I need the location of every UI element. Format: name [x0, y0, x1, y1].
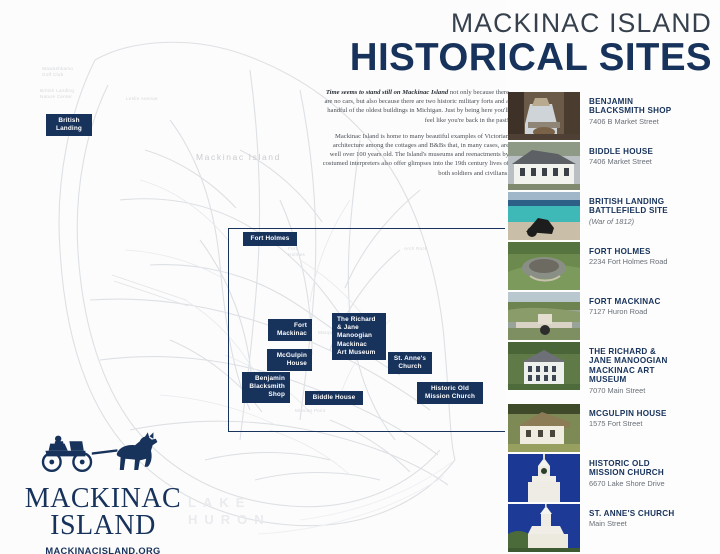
- intro-paragraph-2: Mackinac Island is home to many beautifu…: [322, 132, 509, 178]
- thumbnail-biddle-house[interactable]: [508, 142, 580, 190]
- map-pin-art-museum[interactable]: The Richard & Jane Manoogian Mackinac Ar…: [332, 313, 386, 360]
- thumbnail-british-landing[interactable]: [508, 192, 580, 240]
- thumbnail-fort-mackinac[interactable]: [508, 292, 580, 340]
- site-name: ST. ANNE'S CHURCH: [589, 509, 718, 518]
- map-pin-st-annes-church[interactable]: St. Anne's Church: [388, 352, 432, 374]
- mackinac-island-logo[interactable]: MACKINAC ISLAND MACKINACISLAND.ORG: [8, 430, 198, 554]
- title-line-1: MACKINAC ISLAND: [330, 8, 712, 38]
- thumbnail-st-annes-church[interactable]: [508, 504, 580, 552]
- site-address: 1575 Fort Street: [589, 419, 718, 428]
- site-address: 7127 Huron Road: [589, 307, 718, 316]
- list-item[interactable]: THE RICHARD & JANE MANOOGIAN MACKINAC AR…: [508, 342, 718, 404]
- map-label-mission-point: Mission Point: [295, 408, 326, 414]
- map-label-british-landing-nature-center: British LandingNature Center: [40, 88, 74, 100]
- map-pin-benjamin-blacksmith-shop[interactable]: Benjamin Blacksmith Shop: [242, 372, 290, 403]
- site-address: Main Street: [589, 519, 718, 528]
- site-name: BIDDLE HOUSE: [589, 147, 718, 156]
- site-name: FORT MACKINAC: [589, 297, 718, 306]
- site-name: BRITISH LANDING BATTLEFIELD SITE: [589, 197, 718, 216]
- thumbnail-mcgulpin-house[interactable]: [508, 404, 580, 452]
- historical-sites-poster: WawashkamoGolf Club British LandingNatur…: [0, 0, 720, 554]
- map-label-fort-holmes-faint: FortHolmes: [288, 246, 305, 258]
- intro-paragraph-1: Time seems to stand still on Mackinac Is…: [322, 88, 509, 125]
- site-text: ST. ANNE'S CHURCH Main Street: [580, 504, 718, 529]
- horse-carriage-icon: [23, 430, 183, 478]
- site-text: HISTORIC OLD MISSION CHURCH 6670 Lake Sh…: [580, 454, 718, 488]
- map-pin-fort-mackinac[interactable]: Fort Mackinac: [268, 319, 312, 341]
- logo-wordmark: MACKINAC ISLAND: [8, 485, 198, 539]
- map-pin-mcgulpin-house[interactable]: McGulpin House: [267, 349, 312, 371]
- thumbnail-mission-church[interactable]: [508, 454, 580, 502]
- list-item[interactable]: FORT HOLMES 2234 Fort Holmes Road: [508, 242, 718, 292]
- list-item[interactable]: BIDDLE HOUSE 7406 Market Street: [508, 142, 718, 192]
- thumbnail-fort-holmes[interactable]: [508, 242, 580, 290]
- list-item[interactable]: MCGULPIN HOUSE 1575 Fort Street: [508, 404, 718, 454]
- site-text: FORT MACKINAC 7127 Huron Road: [580, 292, 718, 317]
- list-item[interactable]: FORT MACKINAC 7127 Huron Road: [508, 292, 718, 342]
- thumbnail-blacksmith[interactable]: [508, 92, 580, 140]
- site-address: (War of 1812): [589, 217, 718, 226]
- map-pin-historic-old-mission-church[interactable]: Historic Old Mission Church: [417, 382, 483, 404]
- site-name: MCGULPIN HOUSE: [589, 409, 718, 418]
- site-text: BIDDLE HOUSE 7406 Market Street: [580, 142, 718, 167]
- historical-sites-list: BENJAMIN BLACKSMITH SHOP 7406 B Market S…: [508, 92, 718, 554]
- list-item[interactable]: BENJAMIN BLACKSMITH SHOP 7406 B Market S…: [508, 92, 718, 142]
- logo-url[interactable]: MACKINACISLAND.ORG: [8, 546, 198, 554]
- site-text: THE RICHARD & JANE MANOOGIAN MACKINAC AR…: [580, 342, 718, 395]
- site-name: FORT HOLMES: [589, 247, 718, 256]
- map-island-label: Mackinac Island: [196, 152, 281, 162]
- map-lake-label: LAKE HURON: [188, 494, 271, 528]
- map-label-leslie-avenue: Leslie Avenue: [126, 96, 158, 102]
- site-address: 6670 Lake Shore Drive: [589, 479, 718, 488]
- island-map[interactable]: WawashkamoGolf Club British LandingNatur…: [0, 0, 505, 554]
- lake-line-2: HURON: [188, 512, 271, 527]
- site-text: BRITISH LANDING BATTLEFIELD SITE (War of…: [580, 192, 718, 226]
- site-name: BENJAMIN BLACKSMITH SHOP: [589, 97, 718, 116]
- title-line-2: HISTORICAL SITES: [330, 38, 712, 78]
- site-text: FORT HOLMES 2234 Fort Holmes Road: [580, 242, 718, 267]
- intro-copy: Time seems to stand still on Mackinac Is…: [322, 88, 509, 185]
- logo-name-line2: ISLAND: [8, 512, 198, 539]
- site-name: HISTORIC OLD MISSION CHURCH: [589, 459, 718, 478]
- map-pin-biddle-house[interactable]: Biddle House: [305, 391, 363, 405]
- site-address: 7070 Main Street: [589, 386, 718, 395]
- list-item[interactable]: BRITISH LANDING BATTLEFIELD SITE (War of…: [508, 192, 718, 242]
- intro-lede: Time seems to stand still on Mackinac Is…: [326, 89, 448, 96]
- map-pin-fort-holmes[interactable]: Fort Holmes: [243, 232, 297, 246]
- list-item[interactable]: HISTORIC OLD MISSION CHURCH 6670 Lake Sh…: [508, 454, 718, 504]
- page-title: MACKINAC ISLAND HISTORICAL SITES: [330, 8, 712, 78]
- map-label-wawashkamo: WawashkamoGolf Club: [42, 66, 73, 78]
- map-label-arch-rock: Arch Rock: [404, 246, 427, 252]
- site-address: 7406 Market Street: [589, 157, 718, 166]
- map-pin-british-landing[interactable]: British Landing: [46, 114, 92, 136]
- thumbnail-art-museum[interactable]: [508, 342, 580, 390]
- site-name: THE RICHARD & JANE MANOOGIAN MACKINAC AR…: [589, 347, 718, 385]
- site-address: 7406 B Market Street: [589, 117, 718, 126]
- list-item[interactable]: ST. ANNE'S CHURCH Main Street: [508, 504, 718, 554]
- site-text: BENJAMIN BLACKSMITH SHOP 7406 B Market S…: [580, 92, 718, 126]
- site-address: 2234 Fort Holmes Road: [589, 257, 718, 266]
- site-text: MCGULPIN HOUSE 1575 Fort Street: [580, 404, 718, 429]
